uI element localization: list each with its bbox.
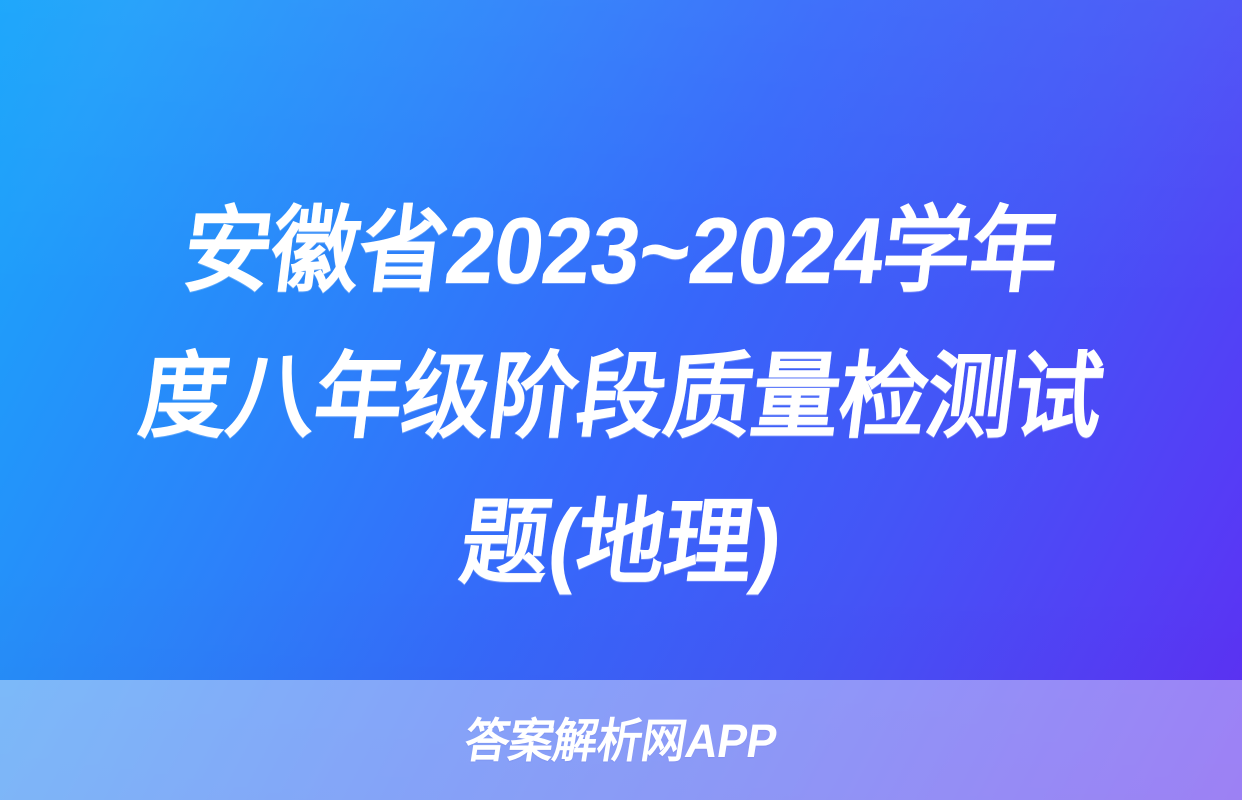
exam-title: 安徽省2023~2024学年 度八年级阶段质量检测试 题(地理) bbox=[0, 178, 1242, 616]
title-card: 安徽省2023~2024学年 度八年级阶段质量检测试 题(地理) 答案解析网AP… bbox=[0, 0, 1242, 800]
title-line-1: 安徽省2023~2024学年 bbox=[55, 178, 1188, 324]
watermark-brand-label: 答案解析网APP bbox=[462, 717, 781, 764]
watermark-band: 答案解析网APP bbox=[0, 680, 1242, 800]
title-line-3: 题(地理) bbox=[55, 470, 1188, 616]
title-line-2: 度八年级阶段质量检测试 bbox=[55, 324, 1188, 470]
